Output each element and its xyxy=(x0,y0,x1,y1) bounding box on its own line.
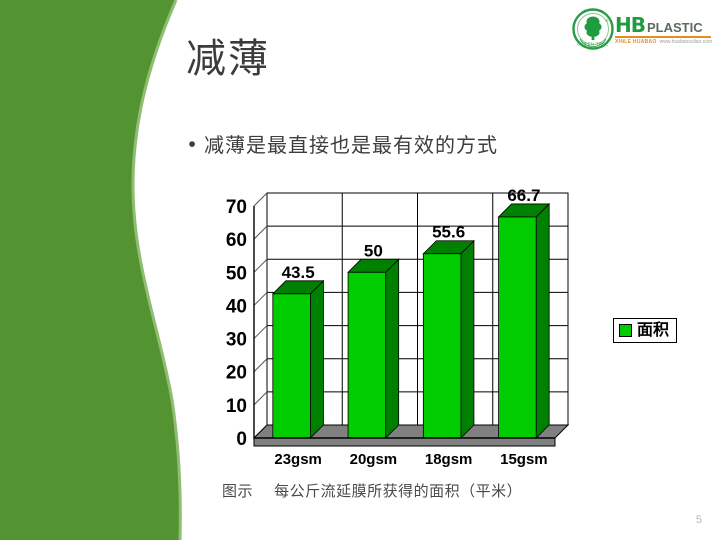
slide-canvas: GREEN TREE ® HB PLASTIC XINLE HUABAO www… xyxy=(0,0,720,540)
y-axis-tick-label: 50 xyxy=(226,263,247,284)
bar-group xyxy=(348,259,399,438)
bar-chart: 66.755.65043.501020304050607023gsm20gsm1… xyxy=(216,176,576,476)
plot-floor-front xyxy=(254,438,555,446)
bar-value-label: 50 xyxy=(364,241,383,260)
slide-title: 减薄 xyxy=(186,36,270,82)
y-axis-tick-label: 60 xyxy=(226,230,247,251)
logo-text-block: HB PLASTIC XINLE HUABAO www.huabaosuliao… xyxy=(615,13,712,46)
y-axis-tick-label: 40 xyxy=(226,296,247,317)
bar-side-face xyxy=(536,204,549,438)
logo-subtext: XINLE HUABAO www.huabaosuliao.com xyxy=(615,39,712,46)
green-tree-emblem-icon: GREEN TREE ® xyxy=(572,8,614,50)
bar-side-face xyxy=(461,241,474,438)
bar-group xyxy=(499,204,550,438)
bar-group xyxy=(423,241,474,438)
company-logo: GREEN TREE ® HB PLASTIC XINLE HUABAO www… xyxy=(572,6,712,52)
y-axis-tick-label: 20 xyxy=(226,363,247,384)
legend-color-swatch xyxy=(619,324,632,337)
bar-value-label: 66.7 xyxy=(507,186,540,205)
bullet-marker-icon: • xyxy=(180,131,204,159)
logo-brand-mark: HB xyxy=(615,15,645,35)
bar-side-face xyxy=(386,259,399,438)
axis-depth-tick xyxy=(254,226,267,239)
chart-caption: 图示 每公斤流延膜所获得的面积（平米） xyxy=(222,480,522,501)
axis-depth-tick xyxy=(254,392,267,405)
axis-depth-tick xyxy=(254,292,267,305)
x-axis-category-label: 15gsm xyxy=(500,451,548,468)
bar-side-face xyxy=(310,281,323,438)
bar-front-face xyxy=(499,217,537,438)
axis-depth-tick xyxy=(254,193,267,206)
bar-front-face xyxy=(423,254,461,438)
svg-text:®: ® xyxy=(606,18,609,23)
x-axis-category-label: 20gsm xyxy=(350,451,398,468)
logo-company-name: XINLE HUABAO xyxy=(615,39,657,46)
logo-website-url: www.huabaosuliao.com xyxy=(660,39,713,46)
page-number: 5 xyxy=(696,514,702,526)
bullet-list-item: • 减薄是最直接也是最有效的方式 xyxy=(180,131,498,159)
bar-value-label: 43.5 xyxy=(282,263,315,282)
chart-svg-canvas: 66.755.65043.501020304050607023gsm20gsm1… xyxy=(216,176,576,476)
axis-depth-tick xyxy=(254,259,267,272)
y-axis-tick-label: 10 xyxy=(226,396,247,417)
x-axis-category-label: 23gsm xyxy=(274,451,322,468)
y-axis-tick-label: 0 xyxy=(236,429,247,450)
logo-brand-word: PLASTIC xyxy=(647,21,703,34)
chart-legend: 面积 xyxy=(613,318,677,343)
bullet-item-text: 减薄是最直接也是最有效的方式 xyxy=(204,131,498,159)
bar-value-label: 55.6 xyxy=(432,223,465,242)
y-axis-tick-label: 30 xyxy=(226,330,247,351)
bar-front-face xyxy=(273,294,311,438)
logo-brand-line: HB PLASTIC xyxy=(615,15,712,35)
bar-group xyxy=(273,281,324,438)
y-axis-tick-label: 70 xyxy=(226,197,247,218)
left-green-band-decoration xyxy=(0,0,200,540)
x-axis-category-label: 18gsm xyxy=(425,451,473,468)
logo-orange-rule xyxy=(615,36,711,38)
axis-depth-tick xyxy=(254,326,267,339)
legend-series-label: 面积 xyxy=(637,322,669,338)
svg-text:GREEN TREE: GREEN TREE xyxy=(577,41,609,46)
bar-front-face xyxy=(348,272,386,438)
axis-depth-tick xyxy=(254,359,267,372)
